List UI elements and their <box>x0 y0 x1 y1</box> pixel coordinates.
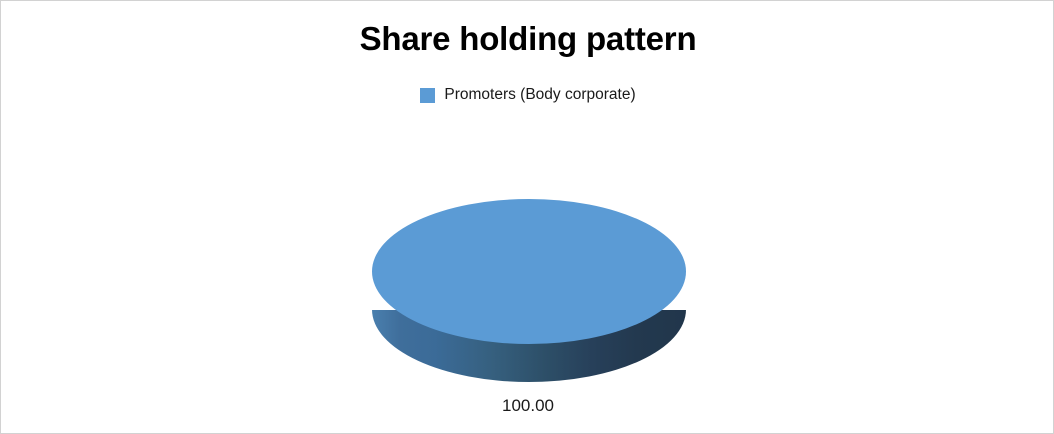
legend-item-promoters-body-corporate[interactable]: Promoters (Body corporate) <box>420 85 635 105</box>
pie-chart-canvas: Share holding pattern Promoters (Body co… <box>0 0 1054 434</box>
chart-legend: Promoters (Body corporate) <box>1 85 1054 105</box>
square-marker-icon <box>420 88 435 103</box>
pie-slice-promoters-body-corporate[interactable] <box>372 199 686 383</box>
pie-data-label: 100.00 <box>1 395 1054 417</box>
legend-item-label: Promoters (Body corporate) <box>444 85 635 105</box>
chart-title: Share holding pattern <box>1 19 1054 59</box>
pie-slice-top-surface <box>372 199 686 344</box>
